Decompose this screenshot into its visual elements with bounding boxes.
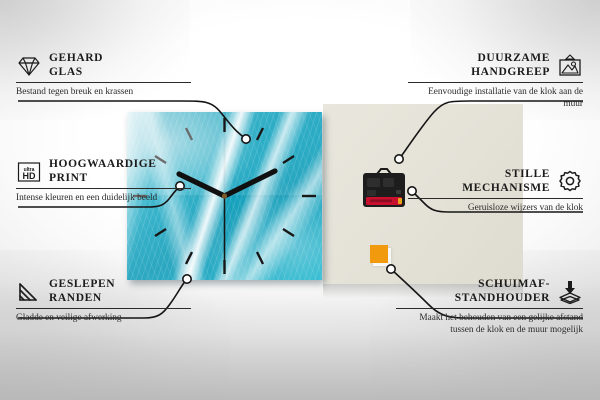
feature-divider — [16, 82, 191, 83]
feature-divider — [396, 308, 583, 309]
clock-hands — [179, 171, 275, 270]
diamond-icon — [16, 53, 42, 79]
feature-schuimafstandhouder: SCHUIMAF-STANDHOUDER Maakt het behouden … — [396, 278, 583, 336]
minute-hand — [225, 171, 276, 196]
feature-divider — [408, 82, 583, 83]
feature-header: DUURZAMEHANDGREEP — [408, 52, 583, 79]
feature-duurzame-handgreep: DUURZAMEHANDGREEP Eenvoudige installatie… — [408, 52, 583, 110]
feature-header: STILLEMECHANISME — [408, 168, 583, 195]
feature-description: Geruisloze wijzers van de klok — [408, 203, 583, 215]
foam-spacer — [370, 245, 388, 263]
feature-description: Eenvoudige installatie van de klok aan d… — [408, 87, 583, 110]
feature-title: HOOGWAARDIGEPRINT — [49, 158, 157, 185]
feature-stille-mechanisme: STILLEMECHANISME Geruisloze wijzers van … — [408, 168, 583, 215]
feature-description: Gladde en veilige afwerking — [16, 313, 191, 325]
svg-text:HD: HD — [23, 171, 36, 181]
feature-title: SCHUIMAF-STANDHOUDER — [455, 278, 550, 305]
feature-title: GESLEPENRANDEN — [49, 278, 115, 305]
feature-description: Intense kleuren en een duidelijk beeld — [16, 193, 191, 205]
feature-hoogwaardige-print: ultra HD HOOGWAARDIGEPRINT Intense kleur… — [16, 158, 191, 205]
beveled-edges-icon — [16, 279, 42, 305]
spacer-press-icon — [557, 279, 583, 305]
feature-divider — [16, 188, 191, 189]
feature-header: SCHUIMAF-STANDHOUDER — [396, 278, 583, 305]
gear-icon — [557, 169, 583, 195]
hands-hub — [222, 193, 227, 198]
feature-title: DUURZAMEHANDGREEP — [471, 52, 550, 79]
feature-geslepen-randen: GESLEPENRANDEN Gladde en veilige afwerki… — [16, 278, 191, 325]
feature-description: Bestand tegen breuk en krassen — [16, 87, 191, 99]
feature-divider — [408, 198, 583, 199]
feature-gehard-glas: GEHARDGLAS Bestand tegen breuk en krasse… — [16, 52, 191, 99]
clock-movement — [360, 166, 408, 210]
feature-header: ultra HD HOOGWAARDIGEPRINT — [16, 158, 191, 185]
ultra-hd-icon: ultra HD — [16, 159, 42, 185]
feature-title: GEHARDGLAS — [49, 52, 103, 79]
feature-header: GEHARDGLAS — [16, 52, 191, 79]
product-infographic: GEHARDGLAS Bestand tegen breuk en krasse… — [0, 0, 600, 400]
feature-divider — [16, 308, 191, 309]
battery-terminal — [398, 198, 402, 204]
feature-title: STILLEMECHANISME — [462, 168, 550, 195]
feature-header: GESLEPENRANDEN — [16, 278, 191, 305]
feature-description: Maakt het behouden van een gelijke afsta… — [396, 313, 583, 336]
down-arrow — [565, 281, 575, 294]
framed-picture-icon — [557, 53, 583, 79]
